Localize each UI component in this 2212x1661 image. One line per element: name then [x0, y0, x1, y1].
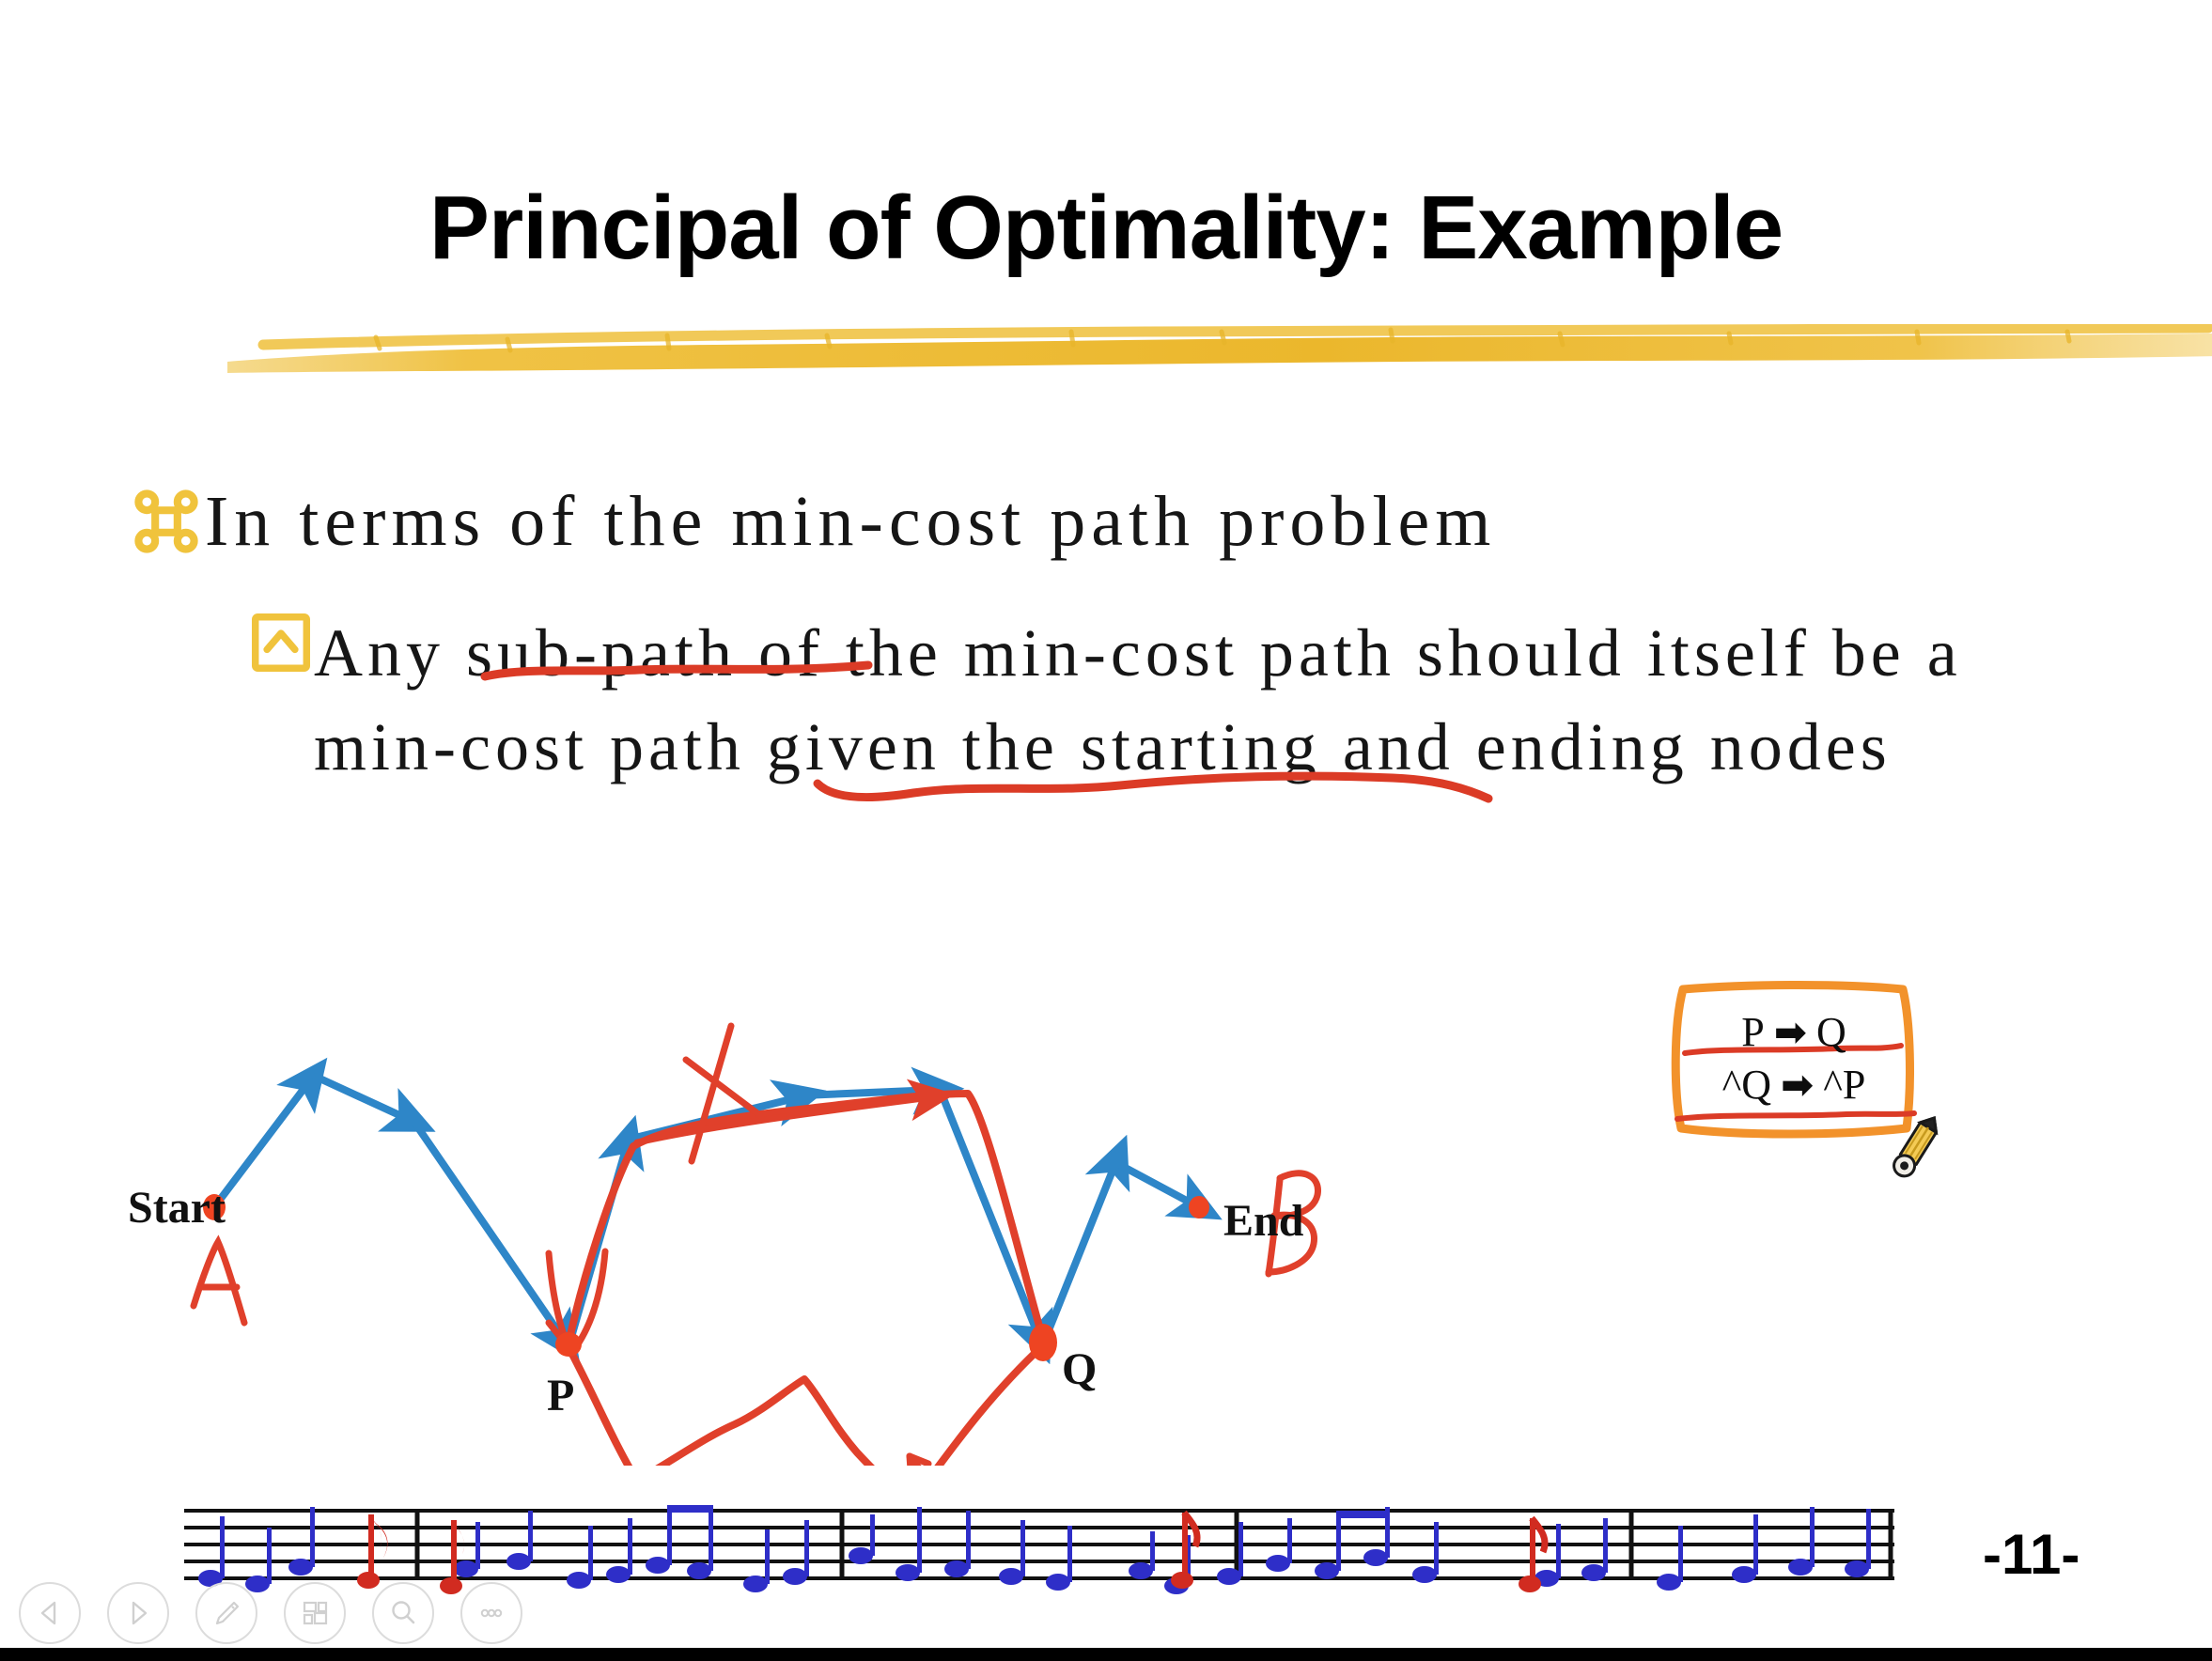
- anno-row1-left: P: [1741, 1009, 1764, 1055]
- ellipsis-icon: [475, 1596, 508, 1630]
- anno-row2-left: ^Q: [1722, 1062, 1771, 1108]
- slides-icon: [298, 1596, 332, 1630]
- bullet-level-1: In terms of the min-cost path problem: [132, 481, 1496, 563]
- annotation-row-1: P➡Q: [1668, 1008, 1920, 1056]
- label-start: Start: [128, 1182, 226, 1234]
- bullet-1-text: In terms of the min-cost path problem: [205, 481, 1496, 563]
- anno-row1-right: Q: [1816, 1009, 1846, 1055]
- node-p-dot: [555, 1332, 582, 1357]
- bottom-toolbar: [19, 1582, 522, 1644]
- annotation-box: P➡Q ^Q➡^P: [1668, 980, 1920, 1141]
- previous-slide-button[interactable]: [19, 1582, 81, 1644]
- pencil-cursor-icon: [1887, 1113, 1953, 1187]
- slides-overview-button[interactable]: [284, 1582, 346, 1644]
- next-slide-button[interactable]: [107, 1582, 169, 1644]
- bullet-level-2: Any sub-path of the min-cost path should…: [252, 606, 1968, 794]
- triangle-left-icon: [34, 1597, 66, 1629]
- node-q-dot: [1029, 1324, 1057, 1361]
- more-options-button[interactable]: [460, 1582, 522, 1644]
- chevron-up-boxed-icon: [252, 613, 310, 672]
- page-number: -11-: [1983, 1522, 2080, 1587]
- label-node-q: Q: [1062, 1343, 1097, 1395]
- arrow-right-icon: ➡: [1765, 1009, 1816, 1055]
- bottom-black-bar: [0, 1648, 2212, 1661]
- label-node-p: P: [547, 1370, 574, 1421]
- bullet-2-text: Any sub-path of the min-cost path should…: [314, 606, 1968, 794]
- arrow-right-icon-2: ➡: [1771, 1062, 1823, 1108]
- label-end: End: [1223, 1195, 1303, 1247]
- zoom-search-button[interactable]: [372, 1582, 434, 1644]
- min-cost-path-diagram: Start End P Q: [141, 977, 1456, 1466]
- annotation-row-2: ^Q➡^P: [1668, 1061, 1920, 1109]
- slide-canvas: Principal of Optimality: Example: [0, 0, 2212, 1661]
- pen-icon: [210, 1596, 243, 1630]
- node-end-dot: [1189, 1196, 1209, 1219]
- magnifier-icon: [386, 1596, 420, 1630]
- pen-tool-button[interactable]: [195, 1582, 257, 1644]
- triangle-right-icon: [122, 1597, 154, 1629]
- page-title: Principal of Optimality: Example: [0, 177, 2212, 280]
- command-icon: [132, 487, 201, 556]
- highlighter-stroke: [226, 324, 2212, 377]
- anno-row2-right: ^P: [1823, 1062, 1865, 1108]
